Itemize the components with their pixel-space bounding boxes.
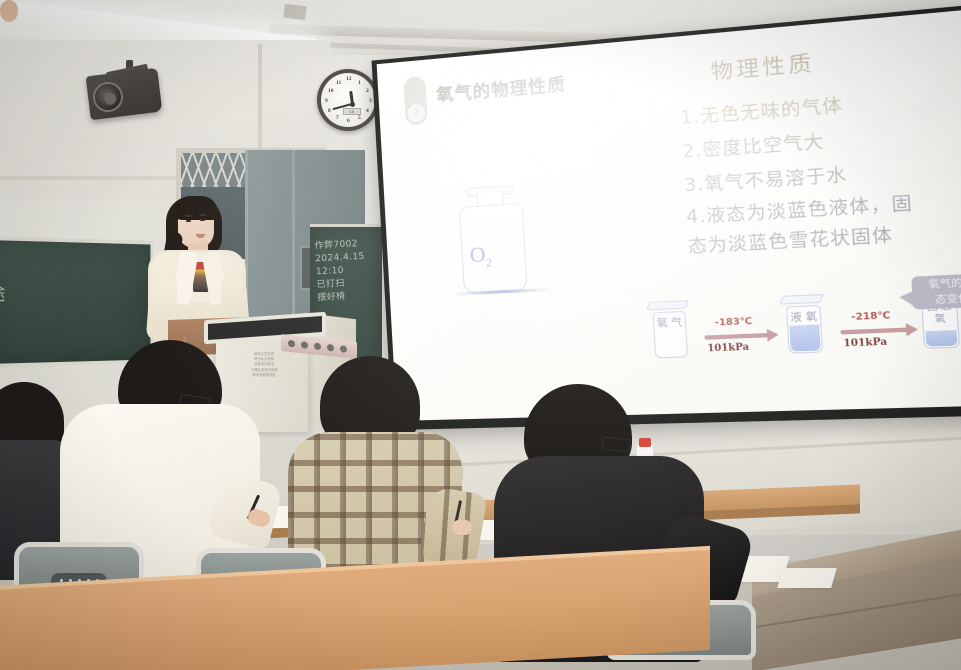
podium-knob[interactable] (288, 339, 295, 347)
podium-knob[interactable] (301, 341, 308, 349)
projection-screen[interactable]: 2 氧气的物理性质 物理性质 1.无色无味的气体 2.密度比空气大 3.氧气不易… (372, 1, 961, 430)
paper-sheet (777, 568, 837, 588)
clock-numeral: 7 (336, 115, 339, 121)
slide-surface: 2 氧气的物理性质 物理性质 1.无色无味的气体 2.密度比空气大 3.氧气不易… (377, 6, 961, 421)
student-black-jacket (0, 0, 18, 22)
podium-instruction-text: 使用注意事项 请勿私自拆卸 设备保持整洁 下课后请关闭电源 教学设备管理处 (244, 352, 284, 378)
bottle-formula-label: O2 (469, 242, 492, 272)
clock-numeral: 1 (358, 80, 361, 86)
teacher-eye-left (186, 220, 191, 222)
formula-o: O (469, 242, 486, 267)
fluorescent-light-cap (283, 4, 307, 21)
chalk-note-text: 作弊7002 2024.4.15 12:10 已打扫 摆好椅 (314, 238, 367, 305)
podium-knob[interactable] (327, 343, 334, 351)
clock-numeral: 9 (325, 98, 328, 104)
teacher-eyebrow-left (185, 215, 192, 217)
diagram-callout-bubble: 氧气的三 态变化 (911, 273, 961, 310)
student-hand (452, 520, 472, 535)
slide-bullet-list: 1.无色无味的气体 2.密度比空气大 3.氧气不易溶于水 4.液态为淡蓝色液体，… (679, 77, 961, 262)
diagram-arrow-2-temp: -218℃ (851, 311, 891, 324)
diagram-arrow-1-temp: -183℃ (714, 317, 752, 329)
clock-numeral: 4 (366, 108, 369, 114)
diagram-jar-label: 液 氧 (786, 311, 821, 325)
blackboard-left-text: 途 (0, 280, 5, 306)
diagram-jar-lid-icon (646, 300, 689, 310)
bottle-cap-icon (639, 438, 651, 447)
student-ear (0, 0, 18, 22)
wall-clock: 12 1 2 3 4 5 6 7 8 9 10 11 15 (317, 69, 379, 131)
state-change-diagram: 氧 气 -183℃ 101kPa 液 氧 -218℃ 101kPa 固 态 氧 … (645, 280, 961, 374)
formula-subscript: 2 (485, 255, 492, 270)
podium-knob[interactable] (340, 345, 347, 353)
clock-numeral: 2 (366, 88, 369, 94)
clock-numeral: 11 (336, 80, 341, 86)
clock-numeral: 12 (346, 76, 352, 82)
diagram-arrow-2 (840, 327, 908, 334)
classroom-scene: 12 1 2 3 4 5 6 7 8 9 10 11 15 途 作弊7002 2… (0, 0, 961, 670)
diagram-jar-label: 氧 气 (653, 317, 687, 331)
glasses-icon (601, 437, 630, 453)
teacher-eye-right (200, 219, 205, 221)
teacher-hair-front (174, 196, 218, 220)
oxygen-bottle-illustration: O2 (452, 182, 534, 298)
diagram-arrow-2-pressure: 101kPa (843, 337, 887, 350)
teacher-eyebrow-right (199, 214, 206, 216)
diagram-jar-lid-icon (779, 294, 824, 305)
blackboard-left: 途 (0, 236, 154, 368)
clock-numeral: 5 (358, 115, 361, 121)
slide-title: 氧气的物理性质 (436, 70, 567, 107)
podium-knob[interactable] (314, 342, 321, 350)
slide-section-heading: 物理性质 (710, 46, 816, 86)
diagram-arrow-1 (704, 333, 769, 340)
clock-face: 12 1 2 3 4 5 6 7 8 9 10 11 15 (321, 73, 375, 127)
clock-numeral: 8 (328, 108, 331, 114)
clock-date-window: 15 (343, 108, 361, 115)
clock-numeral: 6 (347, 118, 350, 124)
diagram-solid-fill (925, 330, 957, 347)
diagram-arrow-1-pressure: 101kPa (707, 342, 749, 354)
diagram-liquid-fill (789, 324, 820, 351)
clock-numeral: 3 (369, 98, 372, 104)
clock-center-pin (350, 102, 355, 107)
clock-numeral: 10 (328, 88, 334, 94)
